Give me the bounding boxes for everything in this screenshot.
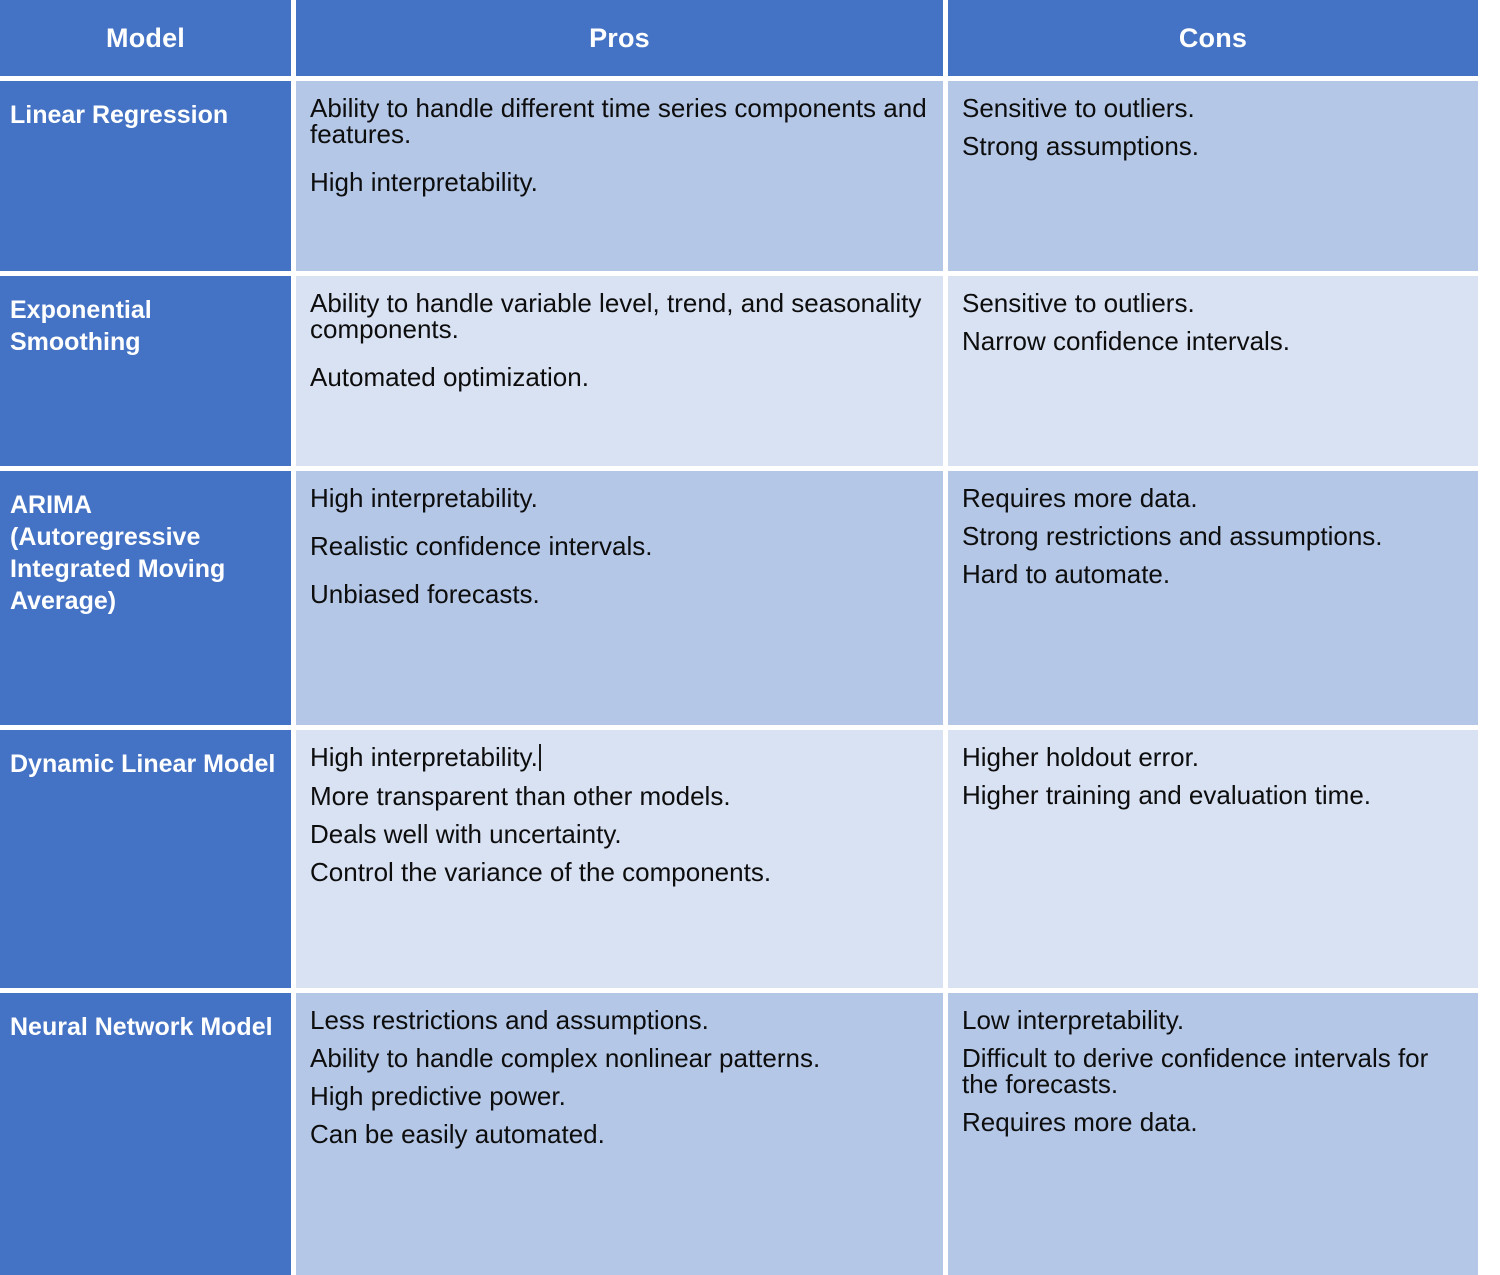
pros-line: Ability to handle different time series … bbox=[310, 95, 929, 147]
pros-line: Automated optimization. bbox=[310, 364, 929, 390]
pros-line-text: High interpretability. bbox=[310, 742, 538, 772]
pros-line: More transparent than other models. bbox=[310, 783, 929, 809]
table-row: Neural Network Model Less restrictions a… bbox=[0, 993, 1478, 1275]
cons-line: Higher holdout error. bbox=[962, 744, 1464, 770]
model-name-cell: Linear Regression bbox=[0, 81, 296, 276]
pros-line: Ability to handle variable level, trend,… bbox=[310, 290, 929, 342]
model-name-cell: Exponential Smoothing bbox=[0, 276, 296, 471]
pros-cell: High interpretability. Realistic confide… bbox=[296, 471, 948, 730]
text-caret bbox=[539, 744, 541, 771]
cons-line: Narrow confidence intervals. bbox=[962, 328, 1464, 354]
cons-line: Sensitive to outliers. bbox=[962, 95, 1464, 121]
cons-cell: Requires more data. Strong restrictions … bbox=[948, 471, 1478, 730]
cons-line: Sensitive to outliers. bbox=[962, 290, 1464, 316]
cons-line: Requires more data. bbox=[962, 485, 1464, 511]
column-header-pros: Pros bbox=[296, 0, 948, 81]
column-header-cons: Cons bbox=[948, 0, 1478, 81]
cons-line: Strong assumptions. bbox=[962, 133, 1464, 159]
model-comparison-table: Model Pros Cons Linear Regression Abilit… bbox=[0, 0, 1478, 1275]
cons-line: Strong restrictions and assumptions. bbox=[962, 523, 1464, 549]
pros-line: Unbiased forecasts. bbox=[310, 581, 929, 607]
pros-line: Realistic confidence intervals. bbox=[310, 533, 929, 559]
pros-line: Less restrictions and assumptions. bbox=[310, 1007, 929, 1033]
table-header: Model Pros Cons bbox=[0, 0, 1478, 81]
cons-line: Difficult to derive confidence intervals… bbox=[962, 1045, 1464, 1097]
pros-line-with-caret: High interpretability. bbox=[310, 744, 929, 771]
table-row: Exponential Smoothing Ability to handle … bbox=[0, 276, 1478, 471]
comparison-table-container: Model Pros Cons Linear Regression Abilit… bbox=[0, 0, 1500, 1132]
pros-line: High interpretability. bbox=[310, 169, 929, 195]
pros-cell: Less restrictions and assumptions. Abili… bbox=[296, 993, 948, 1275]
cons-cell: Higher holdout error. Higher training an… bbox=[948, 730, 1478, 993]
model-name-cell: Dynamic Linear Model bbox=[0, 730, 296, 993]
model-name-cell: Neural Network Model bbox=[0, 993, 296, 1275]
table-row: ARIMA (Autoregressive Integrated Moving … bbox=[0, 471, 1478, 730]
cons-line: Low interpretability. bbox=[962, 1007, 1464, 1033]
pros-line: Can be easily automated. bbox=[310, 1121, 929, 1147]
cons-line: Requires more data. bbox=[962, 1109, 1464, 1135]
pros-line: High interpretability. bbox=[310, 485, 929, 511]
pros-line: Ability to handle complex nonlinear patt… bbox=[310, 1045, 929, 1071]
header-row: Model Pros Cons bbox=[0, 0, 1478, 81]
column-header-model: Model bbox=[0, 0, 296, 81]
cons-cell: Sensitive to outliers. Narrow confidence… bbox=[948, 276, 1478, 471]
pros-line: High predictive power. bbox=[310, 1083, 929, 1109]
table-row: Linear Regression Ability to handle diff… bbox=[0, 81, 1478, 276]
pros-line: Deals well with uncertainty. bbox=[310, 821, 929, 847]
pros-cell: Ability to handle different time series … bbox=[296, 81, 948, 276]
cons-cell: Low interpretability. Difficult to deriv… bbox=[948, 993, 1478, 1275]
model-name-cell: ARIMA (Autoregressive Integrated Moving … bbox=[0, 471, 296, 730]
cons-cell: Sensitive to outliers. Strong assumption… bbox=[948, 81, 1478, 276]
cons-line: Higher training and evaluation time. bbox=[962, 782, 1464, 808]
pros-line: Control the variance of the components. bbox=[310, 859, 929, 885]
cons-line: Hard to automate. bbox=[962, 561, 1464, 587]
pros-cell[interactable]: High interpretability. More transparent … bbox=[296, 730, 948, 993]
pros-cell: Ability to handle variable level, trend,… bbox=[296, 276, 948, 471]
table-row: Dynamic Linear Model High interpretabili… bbox=[0, 730, 1478, 993]
table-body: Linear Regression Ability to handle diff… bbox=[0, 81, 1478, 1275]
